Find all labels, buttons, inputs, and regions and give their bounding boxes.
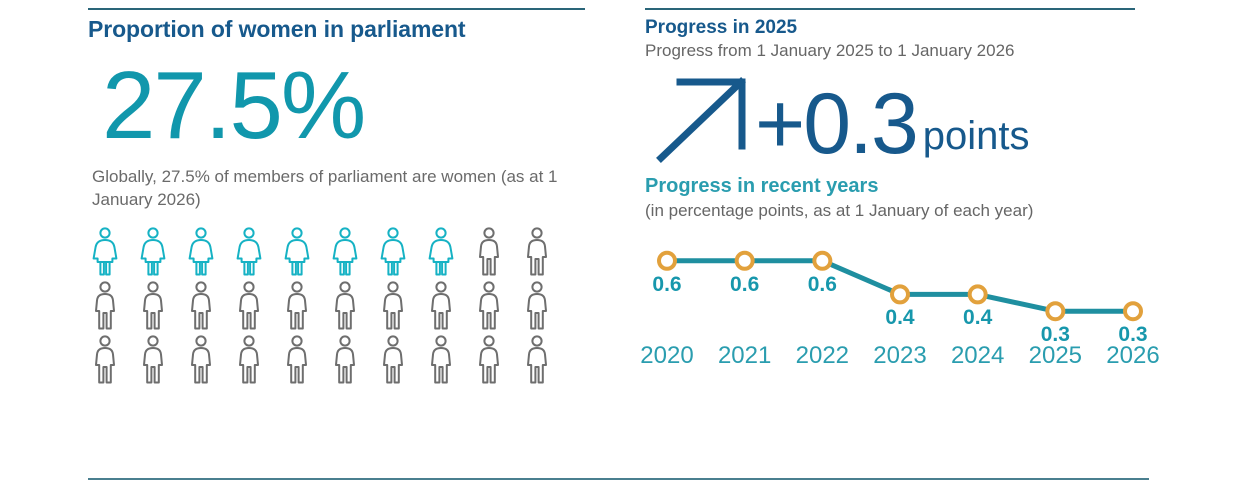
pictogram-figure-woman [236,227,262,277]
chart-data-point[interactable] [1125,303,1141,319]
big-stat-value: 27.5% [102,58,608,154]
chart-data-point[interactable] [970,286,986,302]
pictogram-figure-person [92,281,118,331]
pictogram-row [92,281,608,331]
progress-line-chart: 0.620200.620210.620220.420230.420240.320… [645,228,1155,376]
pictogram-figure-person [476,335,502,385]
chart-value-label: 0.4 [963,306,992,330]
recent-years-subtitle: (in percentage points, as at 1 January o… [645,200,1110,222]
pictogram-figure-person [236,335,262,385]
pictogram-figure-person [236,281,262,331]
infographic-root: Proportion of women in parliament 27.5% … [0,0,1241,491]
chart-data-point[interactable] [737,253,753,269]
pictogram-figure-woman [92,227,118,277]
pictogram-figure-person [428,335,454,385]
pictogram-row [92,335,608,385]
chart-data-point[interactable] [1047,303,1063,319]
divider-top-left [88,8,585,10]
pictogram-figure-person [92,335,118,385]
pictogram-figure-person [428,281,454,331]
chart-data-point[interactable] [814,253,830,269]
pictogram-figure-person [380,335,406,385]
chart-x-tick: 2025 [1029,342,1082,370]
pictogram-figure-woman [332,227,358,277]
pictogram-figure-person [140,281,166,331]
pictogram-figure-woman [380,227,406,277]
chart-x-tick: 2023 [873,342,926,370]
pictogram-figure-person [524,227,550,277]
panel-progress: Progress in 2025 Progress from 1 January… [645,16,1165,376]
pictogram-row [92,227,608,277]
pictogram-figure-person [476,281,502,331]
divider-bottom [88,478,1149,480]
delta-unit: points [923,116,1030,156]
pictogram-figure-person [284,335,310,385]
pictogram-figure-person [188,281,214,331]
pictogram-chart [92,227,608,385]
pictogram-figure-person [524,335,550,385]
chart-x-tick: 2021 [718,342,771,370]
chart-x-tick: 2026 [1106,342,1159,370]
delta-value: +0.3 [755,84,917,166]
page-title: Proportion of women in parliament [88,16,608,44]
chart-value-label: 0.6 [808,273,837,297]
pictogram-figure-person [380,281,406,331]
chart-x-tick: 2022 [796,342,849,370]
chart-x-tick: 2024 [951,342,1004,370]
divider-top-right [645,8,1135,10]
pictogram-figure-person [188,335,214,385]
recent-years-title: Progress in recent years [645,174,1165,198]
chart-x-tick: 2020 [640,342,693,370]
pictogram-figure-person [140,335,166,385]
pictogram-figure-woman [428,227,454,277]
pictogram-figure-person [476,227,502,277]
delta-row: +0.3 points [645,70,1165,166]
progress-title: Progress in 2025 [645,16,1165,40]
chart-data-point[interactable] [892,286,908,302]
chart-data-point[interactable] [659,253,675,269]
pictogram-figure-woman [140,227,166,277]
chart-value-label: 0.4 [885,306,914,330]
chart-value-label: 0.6 [652,273,681,297]
pictogram-figure-woman [188,227,214,277]
arrow-up-right-icon [653,70,757,166]
pictogram-figure-person [284,281,310,331]
chart-value-label: 0.6 [730,273,759,297]
big-stat-caption: Globally, 27.5% of members of parliament… [92,166,562,212]
panel-proportion-of-women: Proportion of women in parliament 27.5% … [88,16,608,385]
pictogram-figure-woman [284,227,310,277]
progress-subtitle: Progress from 1 January 2025 to 1 Januar… [645,40,1165,62]
pictogram-figure-person [332,335,358,385]
pictogram-figure-person [332,281,358,331]
pictogram-figure-person [524,281,550,331]
